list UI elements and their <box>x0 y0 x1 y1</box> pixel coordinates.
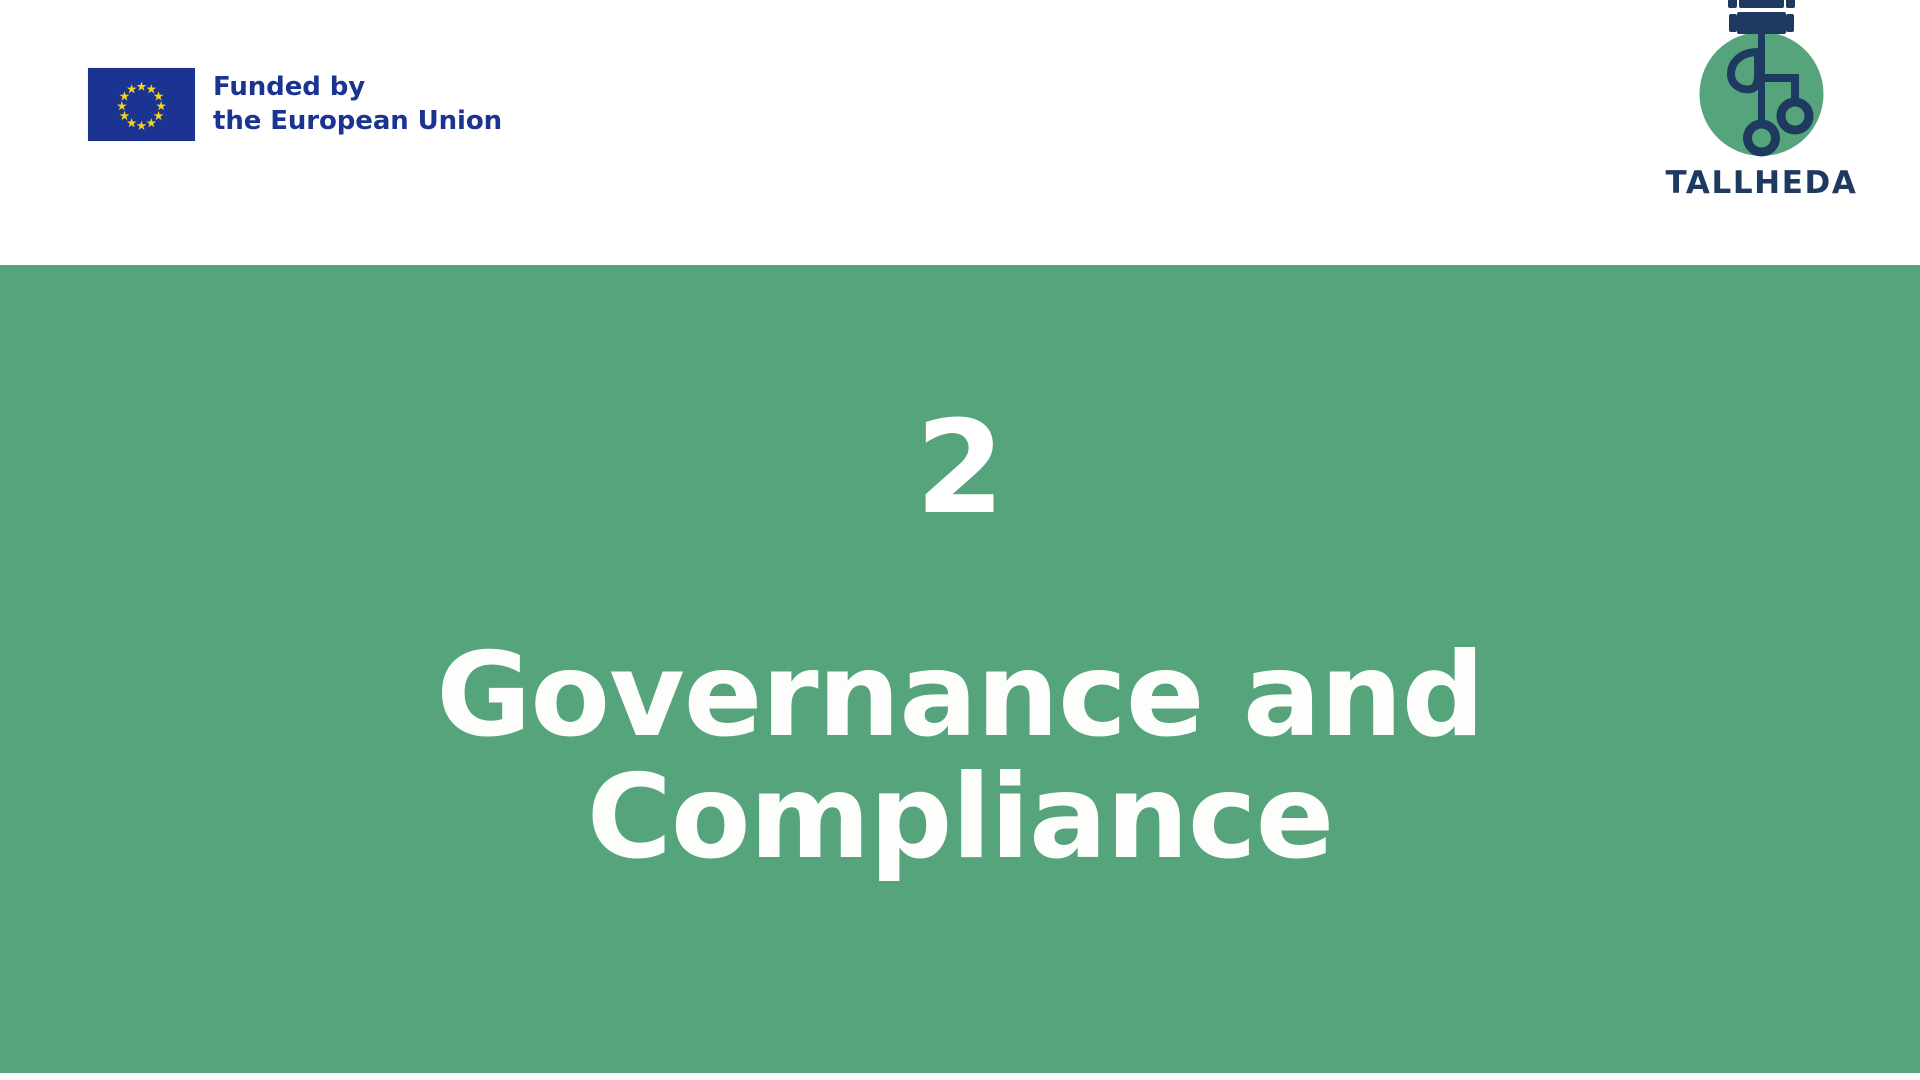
bottom-strip <box>0 1073 1920 1080</box>
slide-header: Funded by the European Union <box>0 0 1920 265</box>
eu-funding-line-1: Funded by <box>213 71 502 104</box>
eu-flag-icon <box>88 68 195 141</box>
eu-funding-line-2: the European Union <box>213 105 502 138</box>
section-number: 2 <box>0 405 1920 533</box>
brand-lockup: TALLHEDA <box>1659 0 1864 210</box>
tallheda-logo-icon <box>1659 0 1864 166</box>
section-banner: 2 Governance and Compliance <box>0 265 1920 1073</box>
section-title: Governance and Compliance <box>0 635 1920 879</box>
eu-funding-lockup: Funded by the European Union <box>88 68 502 141</box>
slide-root: Funded by the European Union <box>0 0 1920 1080</box>
eu-funding-text: Funded by the European Union <box>213 71 502 138</box>
brand-name-label: TALLHEDA <box>1659 168 1864 199</box>
